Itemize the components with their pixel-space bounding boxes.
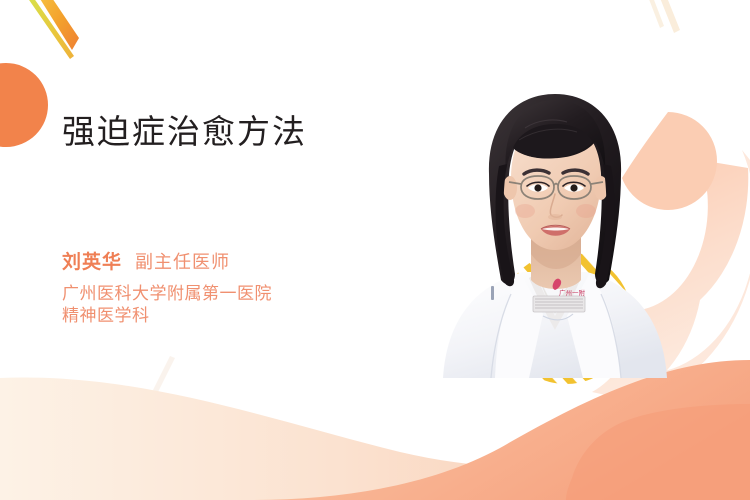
doctor-affiliation-line-1: 广州医科大学附属第一医院 <box>62 283 462 305</box>
doctor-affiliation-line-2: 精神医学科 <box>62 305 462 327</box>
stripe-top-left-thick-icon <box>37 0 79 50</box>
doctor-name-row: 刘英华 副主任医师 <box>62 247 462 274</box>
doctor-name: 刘英华 <box>62 247 122 274</box>
pen-icon <box>491 286 494 300</box>
stripe-top-right-icon <box>647 0 680 33</box>
title-block: 强迫症治愈方法 <box>62 112 462 152</box>
cover-card: 广州一附 强迫症治愈方法 刘英华 副主任医师 广州医科大学附属第一医院 精神医学… <box>0 0 750 500</box>
doctor-portrait: 广州一附 <box>425 78 685 378</box>
doctor-role-title: 副主任医师 <box>135 248 230 274</box>
page-title: 强迫症治愈方法 <box>62 112 462 152</box>
svg-text:广州一附: 广州一附 <box>559 288 586 297</box>
orange-circle-icon <box>0 63 48 147</box>
portrait-figure: 广州一附 <box>443 94 667 378</box>
stripe-bottom-left-icon <box>152 356 175 394</box>
doctor-info-block: 刘英华 副主任医师 广州医科大学附属第一医院 精神医学科 <box>62 247 462 328</box>
